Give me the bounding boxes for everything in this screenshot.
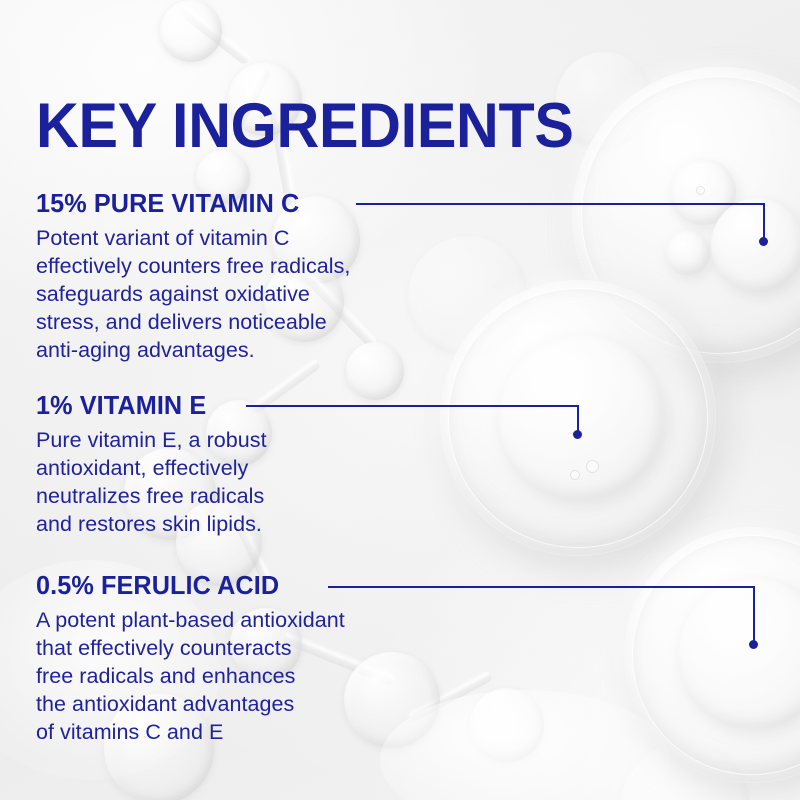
content-layer: KEY INGREDIENTS 15% PURE VITAMIN C Poten… [0, 0, 800, 800]
key-ingredients-infographic: KEY INGREDIENTS 15% PURE VITAMIN C Poten… [0, 0, 800, 800]
page-title: KEY INGREDIENTS [36, 95, 574, 158]
ingredient-name-ferulic-acid: 0.5% FERULIC ACID [36, 572, 336, 599]
ingredient-block-vitamin-c: 15% PURE VITAMIN C Potent variant of vit… [36, 190, 350, 364]
ingredient-name-vitamin-c: 15% PURE VITAMIN C [36, 190, 341, 217]
ingredient-description-vitamin-e: Pure vitamin E, a robust antioxidant, ef… [36, 426, 267, 538]
ingredient-name-vitamin-e: 1% VITAMIN E [36, 392, 260, 419]
ingredient-description-ferulic-acid: A potent plant-based antioxidant that ef… [36, 606, 345, 746]
ingredient-block-vitamin-e: 1% VITAMIN E Pure vitamin E, a robust an… [36, 392, 267, 538]
ingredient-description-vitamin-c: Potent variant of vitamin C effectively … [36, 224, 350, 364]
ingredient-block-ferulic-acid: 0.5% FERULIC ACID A potent plant-based a… [36, 572, 345, 746]
